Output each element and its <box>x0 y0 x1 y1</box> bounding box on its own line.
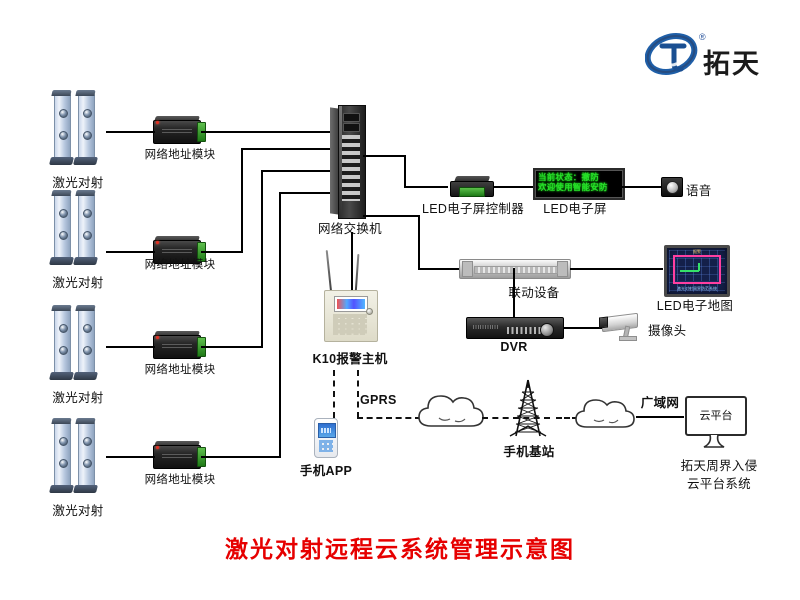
laser-detector-1[interactable] <box>50 90 106 164</box>
laser-detector-3-label: 激光对射 <box>40 387 116 406</box>
linkage-device[interactable] <box>459 259 571 279</box>
gprs-label: GPRS <box>360 393 404 407</box>
wire-ledctl-ledscreen <box>494 186 534 188</box>
led-electronic-map[interactable]: 报警 激光对射周界防范系统 <box>664 245 730 297</box>
led-screen-label: LED电子屏 <box>530 198 620 217</box>
dvr-label: DVR <box>490 340 538 354</box>
wire-laser2-module2 <box>106 251 155 253</box>
network-address-module-4-label: 网络地址模块 <box>134 471 226 487</box>
wire-switch-ledctl-top <box>363 155 406 157</box>
led-screen-line2: 欢迎使用智能安防 <box>538 182 620 192</box>
registered-mark: ® <box>699 32 706 42</box>
network-address-module-4[interactable] <box>153 441 203 469</box>
wire-riser3-switch <box>261 170 333 172</box>
wire-linkage-dvr <box>513 268 515 318</box>
voice-label: 语音 <box>686 180 730 199</box>
cloud-network-2-icon <box>572 392 638 434</box>
cloud-network-1-icon <box>415 388 487 434</box>
laser-detector-4[interactable] <box>50 418 106 492</box>
network-switch-label: 网络交换机 <box>298 218 402 237</box>
camera-label: 摄像头 <box>648 320 704 339</box>
laser-detector-2-label: 激光对射 <box>40 272 116 291</box>
page-title: 激光对射远程云系统管理示意图 <box>0 530 800 564</box>
wire-module1-switch <box>201 131 333 133</box>
k10-alarm-host-label: K10报警主机 <box>298 348 402 367</box>
wire-switch-linkage-riser <box>418 215 420 270</box>
wire-dvr-camera <box>563 327 603 329</box>
wire-ledctl-in <box>404 186 448 188</box>
diagram-canvas: ® 拓天 激光对射 网络地址模块 激光对射 网络地址模块 激光对射 <box>0 0 800 600</box>
led-map-caption: 激光对射周界防范系统 <box>667 286 727 292</box>
brand-mark-icon <box>645 30 701 80</box>
wire-laser4-module4 <box>106 456 155 458</box>
cloud-platform-caption-1: 拓天周界入侵 <box>660 455 778 474</box>
wire-cloud2-platform <box>636 416 684 418</box>
cloud-platform-caption-2: 云平台系统 <box>660 473 778 492</box>
led-screen-controller[interactable] <box>450 176 494 196</box>
mobile-base-station-label: 手机基站 <box>494 441 564 460</box>
laser-detector-3[interactable] <box>50 305 106 379</box>
wire-ledscreen-voice <box>620 186 662 188</box>
wire-laser1-module1 <box>106 131 155 133</box>
dvr-recorder[interactable] <box>466 317 564 339</box>
laser-detector-2[interactable] <box>50 190 106 264</box>
network-address-module-3-label: 网络地址模块 <box>134 361 226 377</box>
k10-alarm-host[interactable] <box>320 250 380 342</box>
riser-module3 <box>261 170 263 348</box>
network-address-module-3[interactable] <box>153 331 203 359</box>
brand-name: 拓天 <box>703 42 761 81</box>
led-electronic-map-label: LED电子地图 <box>650 295 740 314</box>
mobile-phone-app-label: 手机APP <box>292 460 360 479</box>
led-screen-controller-label: LED电子屏控制器 <box>418 198 528 217</box>
wan-label: 广域网 <box>632 392 688 411</box>
laser-detector-1-label: 激光对射 <box>40 172 116 191</box>
brand-logo: ® 拓天 <box>645 30 795 82</box>
network-address-module-1[interactable] <box>153 116 203 144</box>
led-screen: 当前状态：撤防 欢迎使用智能安防 <box>533 168 625 200</box>
wire-riser2-switch <box>241 148 333 150</box>
mobile-base-station-icon[interactable] <box>500 378 556 445</box>
wire-module2-riser <box>201 251 243 253</box>
wire-linkage-in <box>418 268 460 270</box>
led-map-top-text: 报警 <box>667 249 727 255</box>
linkage-device-label: 联动设备 <box>488 282 580 301</box>
wire-riser4-switch <box>279 192 333 194</box>
led-screen-line1: 当前状态：撤防 <box>538 172 620 182</box>
cloud-platform-screen-label: 云平台 <box>684 407 748 423</box>
network-address-module-1-label: 网络地址模块 <box>134 146 226 162</box>
wire-linkage-ledmap <box>570 268 663 270</box>
cctv-camera-icon[interactable] <box>602 315 646 341</box>
dash-gprs-cloud1 <box>357 417 421 419</box>
wire-laser3-module3 <box>106 346 155 348</box>
dash-k10-gprs-left <box>333 370 335 418</box>
wire-switch-ledctl-riser <box>404 155 406 188</box>
voice-speaker-icon <box>661 177 683 197</box>
network-address-module-2-label: 网络地址模块 <box>134 256 226 272</box>
wire-module3-riser <box>201 346 263 348</box>
wire-switch-linkage-top <box>363 215 420 217</box>
laser-detector-4-label: 激光对射 <box>40 500 116 519</box>
cloud-platform-monitor[interactable]: 云平台 <box>684 395 752 451</box>
riser-module2 <box>241 148 243 253</box>
mobile-phone-app[interactable] <box>314 418 338 458</box>
dash-k10-gprs-right <box>357 370 359 418</box>
wire-module4-riser <box>201 456 281 458</box>
network-switch[interactable] <box>330 105 370 217</box>
riser-module4 <box>279 192 281 458</box>
